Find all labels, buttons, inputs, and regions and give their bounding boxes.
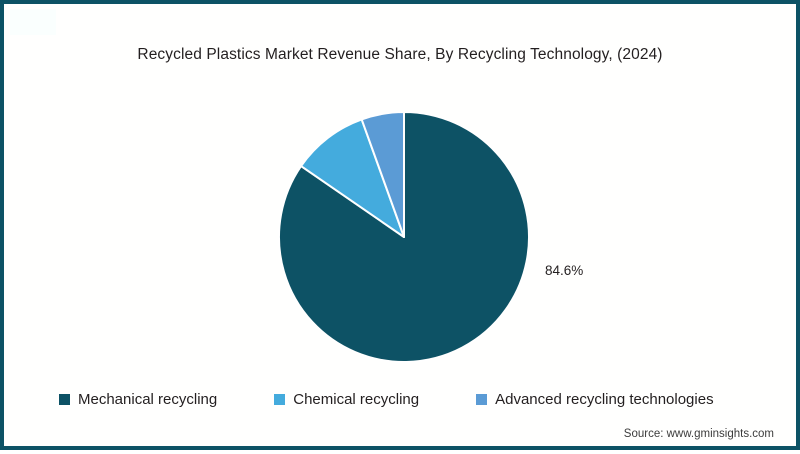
pie-slice-label-mechanical: 84.6% — [545, 263, 583, 278]
legend-swatch-icon — [476, 394, 487, 405]
legend-item-advanced-recycling-technologies[interactable]: Advanced recycling technologies — [476, 391, 713, 408]
chart-legend: Mechanical recycling Chemical recycling … — [4, 387, 796, 411]
legend-item-label: Chemical recycling — [293, 391, 419, 408]
legend-item-chemical-recycling[interactable]: Chemical recycling — [274, 391, 419, 408]
pie-slice[interactable] — [362, 112, 404, 237]
source-attribution: Source: www.gminsights.com — [624, 428, 774, 440]
chart-card: Recycled Plastics Market Revenue Share, … — [0, 0, 800, 450]
legend-item-label: Mechanical recycling — [78, 391, 217, 408]
legend-item-label: Advanced recycling technologies — [495, 391, 713, 408]
legend-item-mechanical-recycling[interactable]: Mechanical recycling — [59, 391, 217, 408]
legend-swatch-icon — [274, 394, 285, 405]
legend-swatch-icon — [59, 394, 70, 405]
pie-slice-group — [279, 112, 529, 362]
pie-slice[interactable] — [279, 112, 529, 362]
chart-title: Recycled Plastics Market Revenue Share, … — [4, 46, 796, 64]
pie-slice[interactable] — [301, 119, 404, 237]
watermark-logo — [10, 9, 56, 35]
